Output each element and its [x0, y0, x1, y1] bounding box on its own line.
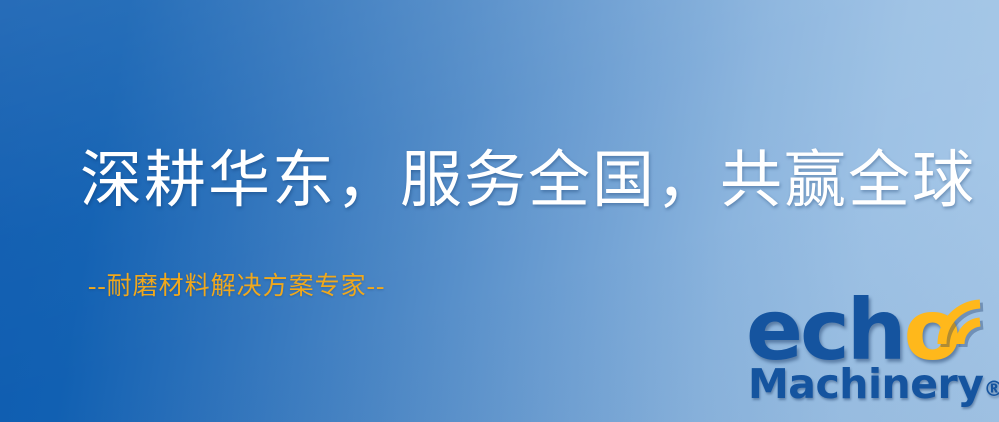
promo-banner: 深耕华东，服务全国，共赢全球 --耐磨材料解决方案专家-- echo Machi…	[0, 0, 999, 422]
logo-company-text: Machinery	[748, 360, 983, 408]
echo-machinery-logo: echo Machinery®	[742, 296, 999, 422]
banner-headline: 深耕华东，服务全国，共赢全球	[80, 148, 976, 215]
wifi-arcs-icon	[932, 292, 998, 350]
banner-subtitle: --耐磨材料解决方案专家--	[88, 266, 385, 302]
logo-company-name: Machinery®	[748, 364, 999, 405]
registered-trademark-symbol: ®	[983, 377, 999, 401]
